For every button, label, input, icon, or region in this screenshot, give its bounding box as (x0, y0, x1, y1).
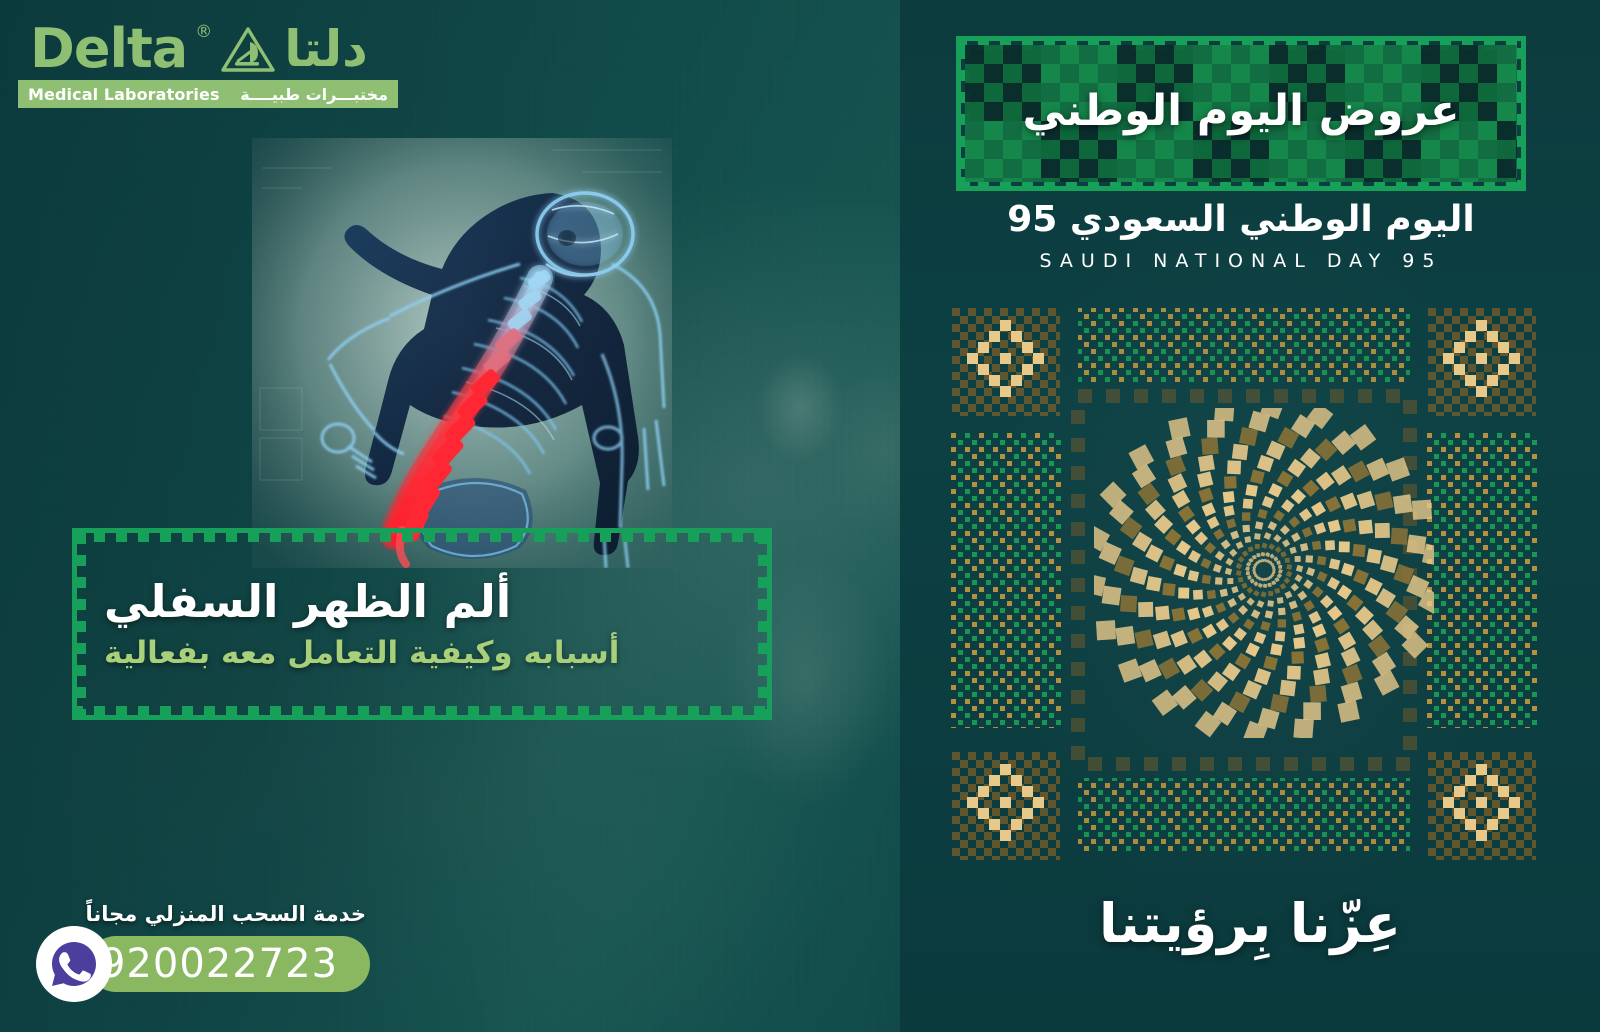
spiral-square-rosette-ornament: {} (1094, 408, 1434, 738)
logo-name-ar: دلتا (284, 24, 368, 74)
logo-tagline-bar: Medical Laboratories مختبـــرات طبيــــة (18, 80, 398, 108)
frame-border-bottom (72, 706, 772, 720)
headline-title: ألم الظهر السفلي (104, 575, 511, 628)
headline-subtitle: أسبابه وكيفية التعامل معه بفعالية (104, 634, 619, 673)
logo-tagline-ar: مختبـــرات طبيــــة (240, 85, 388, 104)
national-day-panel: عروض اليوم الوطني اليوم الوطني السعودي 9… (900, 0, 1600, 1032)
frame-border-right (758, 528, 772, 720)
national-day-slogan: عِزّنا بِرؤيتنا (940, 892, 1560, 955)
registered-mark-icon: ® (195, 22, 212, 42)
offers-banner: عروض اليوم الوطني (956, 36, 1526, 191)
offers-title: عروض اليوم الوطني (965, 45, 1517, 182)
phone-pill[interactable]: 920022723 (88, 936, 370, 992)
national-day-subtitle-en: SAUDI NATIONAL DAY 95 (956, 250, 1526, 272)
logo-wordmark-row: Delta ® دلتا (18, 18, 398, 80)
frame-border-left (72, 528, 86, 720)
sadu-zigzag-band-right (1426, 432, 1538, 728)
contact-service-label: خدمة السحب المنزلي مجاناً (86, 902, 366, 926)
sadu-zigzag-band-left (950, 432, 1062, 728)
poster-canvas: Delta ® دلتا Medical Laboratories مختبــ… (0, 0, 1600, 1032)
sadu-diamond-motif-top-left (952, 308, 1060, 416)
sadu-diamond-motif-bottom-left (952, 752, 1060, 860)
national-day-subtitle-ar: اليوم الوطني السعودي 95 (956, 200, 1526, 240)
phone-number[interactable]: 920022723 (100, 941, 358, 987)
xray-spine-illustration (252, 138, 672, 568)
frame-border-top (72, 528, 772, 542)
brand-logo[interactable]: Delta ® دلتا Medical Laboratories مختبــ… (18, 18, 398, 112)
contact-block[interactable]: خدمة السحب المنزلي مجاناً 920022723 (22, 902, 372, 1010)
sadu-diamond-motif-top-right (1428, 308, 1536, 416)
headline-frame: ألم الظهر السفلي أسبابه وكيفية التعامل م… (72, 528, 772, 720)
sadu-zigzag-band-top (1078, 308, 1410, 382)
microscope-triangle-icon (220, 25, 276, 73)
logo-name-en: Delta (30, 22, 187, 76)
sadu-ornament-grid: {} (944, 300, 1544, 860)
sadu-diamond-motif-bottom-right (1428, 752, 1536, 860)
headline-content: ألم الظهر السفلي أسبابه وكيفية التعامل م… (86, 542, 758, 706)
logo-tagline-en: Medical Laboratories (28, 85, 220, 104)
sadu-zigzag-band-bottom (1078, 778, 1410, 852)
whatsapp-icon[interactable] (36, 926, 112, 1002)
